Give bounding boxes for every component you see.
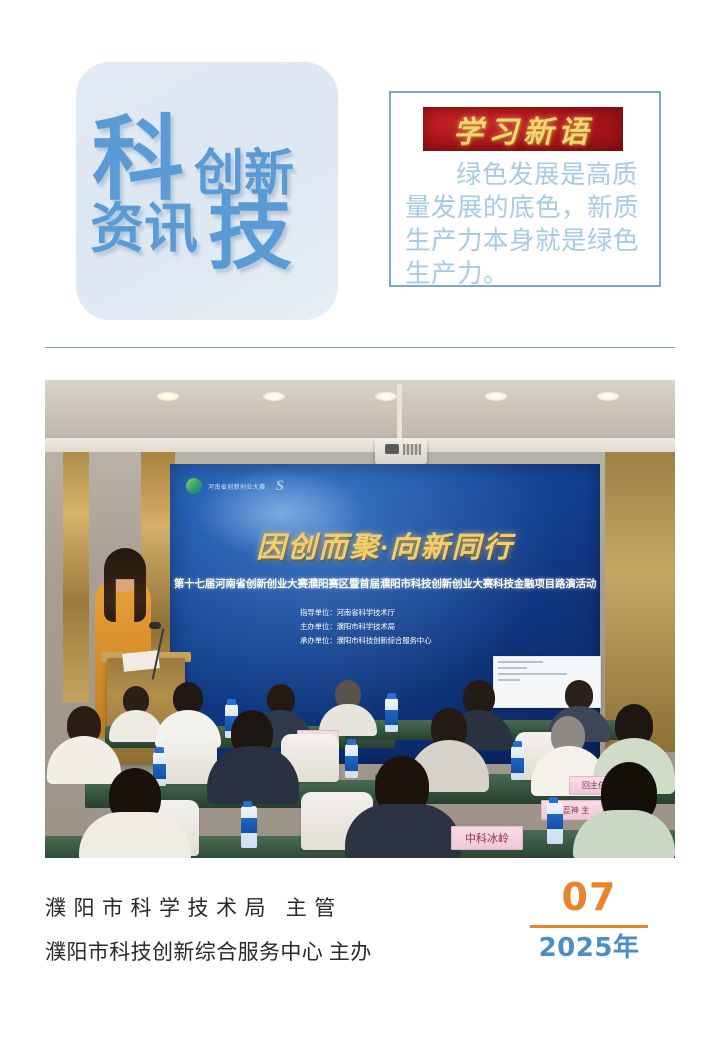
water-bottle — [511, 746, 524, 780]
quote-banner-title: 学习新语 — [453, 107, 593, 151]
screen-org-line-2: 主办单位：濮阳市科学技术局 — [300, 620, 540, 634]
ceiling-light-icon — [597, 392, 619, 401]
ceiling-light-icon — [485, 392, 507, 401]
header-divider — [45, 347, 675, 348]
issue-block: 07 2025年 — [524, 878, 654, 961]
issue-number: 07 — [524, 878, 654, 916]
screen-headline: 因创而聚·向新同行 — [170, 524, 600, 566]
sponsor-s-icon: S — [276, 478, 284, 495]
water-bottle — [241, 806, 257, 848]
quote-box: 学习新语 绿色发展是高质量发展的底色，新质生产力本身就是绿色生产力。 — [389, 91, 661, 287]
competition-logo-caption: 河南省创新创业大赛 — [208, 482, 266, 491]
water-bottle — [385, 698, 398, 732]
microphone-icon — [149, 622, 161, 629]
issue-divider — [530, 925, 648, 928]
logo-char-ke: 科 — [92, 114, 180, 206]
masthead-row: 科 创新 资讯 技 学习新语 绿色发展是高质量发展的底色，新质生产力本身就是绿色… — [0, 0, 720, 348]
footer-organizer-line: 濮阳市科技创新综合服务中心 主办 — [45, 936, 465, 966]
audience-head — [463, 680, 495, 714]
issue-year: 2025年 — [524, 935, 654, 961]
publication-logo-box: 科 创新 资讯 技 — [76, 62, 338, 320]
screen-org-line-1: 指导单位：河南省科学技术厅 — [300, 606, 540, 620]
screen-org-line-3: 承办单位：濮阳市科技创新综合服务中心 — [300, 634, 540, 648]
screen-subtitle: 第十七届河南省创新创业大赛濮阳赛区暨首届濮阳市科技创新创业大赛科技金融项目路演活… — [170, 576, 600, 591]
competition-leaf-icon — [186, 478, 202, 494]
ceiling-light-icon — [375, 392, 397, 401]
logo-char-zixun: 资讯 — [90, 202, 198, 256]
ceiling-light-icon — [263, 392, 285, 401]
cover-photo: 河南省创新创业大赛 S 因创而聚·向新同行 第十七届河南省创新创业大赛濮阳赛区暨… — [45, 380, 675, 858]
logo-char-ji: 技 — [208, 190, 290, 274]
ceiling — [45, 380, 675, 442]
screen-organizers: 指导单位：河南省科学技术厅 主办单位：濮阳市科学技术局 承办单位：濮阳市科技创新… — [300, 606, 540, 648]
screen-logo-row: 河南省创新创业大赛 S — [186, 476, 336, 496]
audience-shoulders — [345, 804, 461, 858]
wall-panel-gold — [63, 452, 89, 702]
table-namecard: 中科冰岭 — [451, 826, 523, 850]
water-bottle — [345, 744, 358, 778]
projector-mount-rod — [397, 384, 402, 442]
quote-banner: 学习新语 — [423, 107, 623, 151]
footer-supervisor-line: 濮阳市科学技术局 主管 — [45, 892, 465, 922]
footer-publisher-info: 濮阳市科学技术局 主管 濮阳市科技创新综合服务中心 主办 — [45, 892, 465, 966]
audience-area: 副主任 回主任 皓蕊神 主 — [45, 680, 675, 858]
quote-text: 绿色发展是高质量发展的底色，新质生产力本身就是绿色生产力。 — [405, 159, 649, 292]
ceiling-light-icon — [157, 392, 179, 401]
footer: 濮阳市科学技术局 主管 濮阳市科技创新综合服务中心 主办 07 2025年 — [0, 870, 720, 1000]
water-bottle — [547, 802, 563, 844]
projector-vents — [403, 444, 421, 455]
projector-lens-icon — [385, 444, 399, 454]
